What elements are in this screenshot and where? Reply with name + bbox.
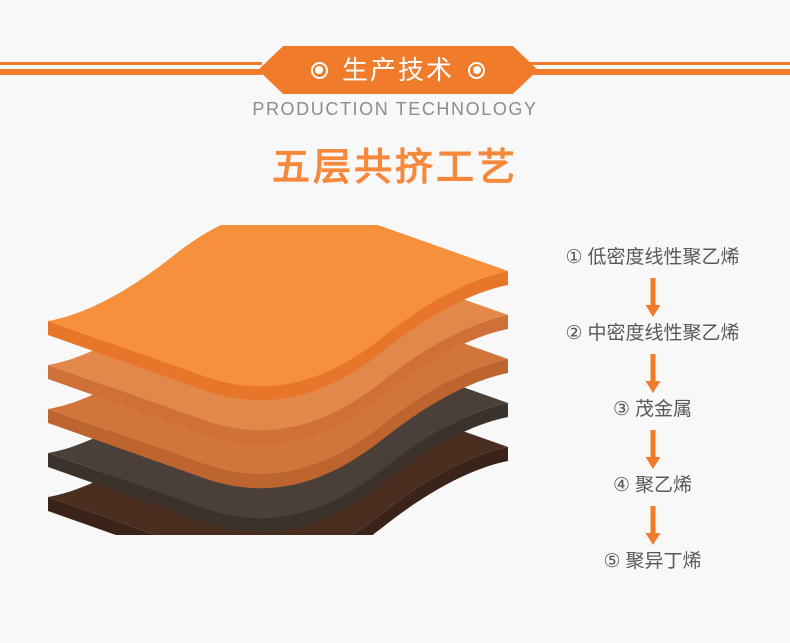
header-rule-left-line-top	[0, 62, 262, 65]
banner-right-dot-icon	[468, 62, 485, 79]
legend-arrow-3-to-4	[520, 424, 785, 476]
banner-title-text: 生产技术	[342, 57, 454, 83]
arrow-down-icon	[645, 430, 660, 469]
header-rule-right-line-bottom	[528, 69, 790, 75]
legend-item-2-number: ②	[565, 324, 582, 343]
layer-legend-list: ① 低密度线性聚乙烯 ② 中密度线性聚乙烯 ③ 茂金属 ④ 聚乙烯 ⑤ 聚异丁烯	[520, 248, 785, 576]
header-rule-left	[0, 62, 262, 79]
legend-item-4: ④ 聚乙烯	[520, 476, 785, 500]
header-rule-right-line-top	[528, 62, 790, 65]
legend-item-3: ③ 茂金属	[520, 400, 785, 424]
legend-arrow-2-to-3	[520, 348, 785, 400]
legend-item-1-label: 低密度线性聚乙烯	[588, 248, 740, 267]
legend-item-5-label: 聚异丁烯	[626, 552, 702, 571]
section-title-banner: 生产技术	[258, 46, 538, 94]
legend-item-5-number: ⑤	[603, 552, 620, 571]
header-rule-right	[528, 62, 790, 79]
header-rule-left-line-bottom	[0, 69, 262, 75]
legend-item-5: ⑤ 聚异丁烯	[520, 552, 785, 576]
legend-item-2: ② 中密度线性聚乙烯	[520, 324, 785, 348]
legend-item-1-number: ①	[565, 248, 582, 267]
legend-item-1: ① 低密度线性聚乙烯	[520, 248, 785, 272]
legend-item-4-number: ④	[613, 476, 630, 495]
legend-item-4-label: 聚乙烯	[635, 476, 692, 495]
header-area: 生产技术 PRODUCTION TECHNOLOGY	[0, 0, 790, 135]
arrow-down-icon	[645, 506, 660, 545]
arrow-down-icon	[645, 354, 660, 393]
legend-item-3-number: ③	[613, 400, 630, 419]
arrow-down-icon	[645, 278, 660, 317]
five-layer-sheet-illustration	[38, 225, 538, 535]
legend-arrow-4-to-5	[520, 500, 785, 552]
section-subtitle-english: PRODUCTION TECHNOLOGY	[0, 100, 790, 118]
banner-left-dot-icon	[311, 62, 328, 79]
main-title-chinese: 五层共挤工艺	[0, 146, 790, 192]
legend-item-3-label: 茂金属	[635, 400, 692, 419]
legend-arrow-1-to-2	[520, 272, 785, 324]
legend-item-2-label: 中密度线性聚乙烯	[588, 324, 740, 343]
